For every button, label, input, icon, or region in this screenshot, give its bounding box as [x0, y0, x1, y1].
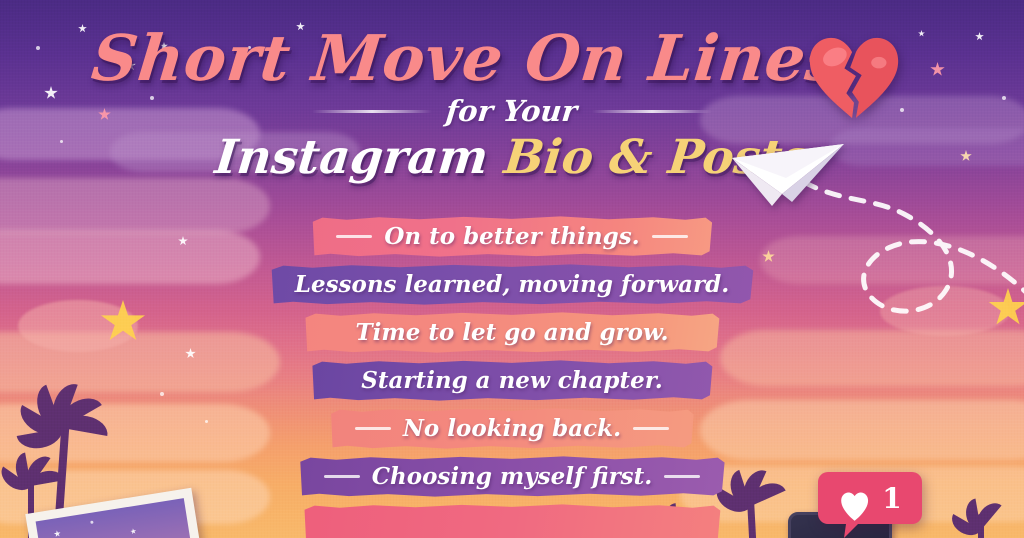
subtitle-for-your: for Your: [445, 94, 580, 128]
like-count: 1: [882, 482, 901, 515]
banner-dash-left: [324, 475, 360, 478]
quote-banner-7[interactable]: [302, 504, 722, 538]
quote-banner-6[interactable]: Choosing myself first.: [298, 456, 727, 497]
quote-banner-2[interactable]: Lessons learned, moving forward.: [269, 264, 755, 305]
paper-plane-icon: [730, 138, 850, 210]
banner-dash-left: [355, 427, 391, 430]
quote-text: Lessons learned, moving forward.: [295, 271, 729, 298]
broken-heart-icon: [806, 34, 902, 120]
quote-banner-1[interactable]: On to better things.: [310, 216, 713, 257]
quote-text: Starting a new chapter.: [361, 367, 662, 394]
quote-text: On to better things.: [384, 223, 639, 250]
swash-left-icon: [312, 110, 432, 113]
quote-text: No looking back.: [403, 415, 621, 442]
quote-banner-3[interactable]: Time to let go and grow.: [303, 312, 721, 353]
banner-dash-right: [664, 475, 700, 478]
quote-text: Time to let go and grow.: [356, 319, 669, 346]
quote-banner-5[interactable]: No looking back.: [329, 408, 695, 449]
swash-right-icon: [592, 110, 712, 113]
word-instagram: Instagram: [213, 130, 491, 185]
quote-text: Choosing myself first.: [372, 463, 653, 490]
poster-canvas: Short Move On Lines for Your Instagram B…: [0, 0, 1024, 538]
banner-dash-right: [633, 427, 669, 430]
banner-dash-right: [652, 235, 688, 238]
banner-dash-left: [336, 235, 372, 238]
subtitle-instagram-bio-posts: Instagram Bio & Posts: [0, 130, 1024, 185]
quote-banner-4[interactable]: Starting a new chapter.: [310, 360, 714, 401]
like-badge[interactable]: 1: [818, 470, 922, 538]
